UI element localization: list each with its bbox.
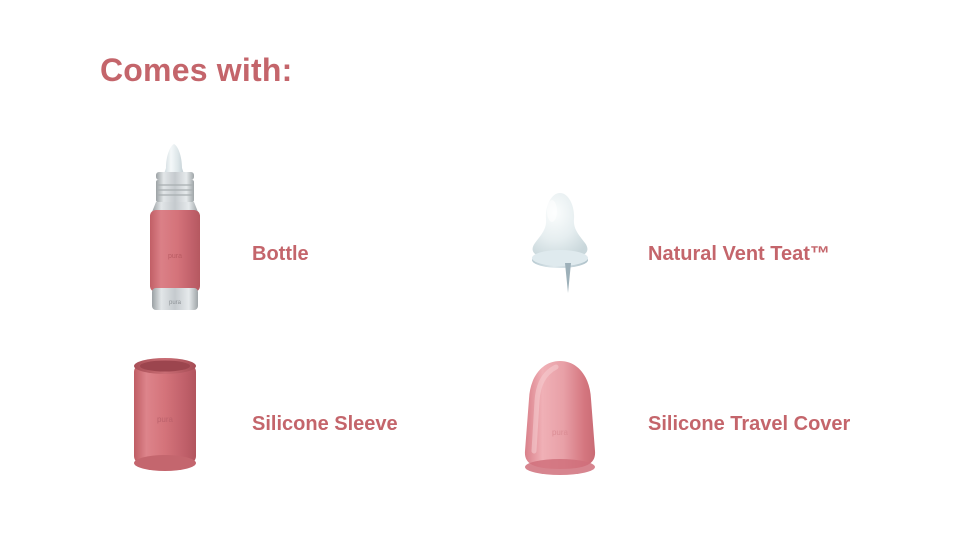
svg-text:pura: pura xyxy=(157,415,174,424)
label-sleeve: Silicone Sleeve xyxy=(252,413,398,436)
svg-text:pura: pura xyxy=(168,253,182,260)
label-travel-cover: Silicone Travel Cover xyxy=(648,413,850,436)
label-bottle: Bottle xyxy=(252,243,309,266)
slide-canvas: Comes with: xyxy=(0,0,960,540)
product-image-travel-cover: pura xyxy=(500,355,625,480)
page-title: Comes with: xyxy=(100,52,292,89)
product-image-sleeve: pura xyxy=(120,350,230,480)
label-teat: Natural Vent Teat™ xyxy=(648,243,830,266)
svg-text:pura: pura xyxy=(169,300,182,306)
product-image-bottle: pura pura xyxy=(120,130,230,320)
product-image-teat xyxy=(495,185,625,305)
svg-text:pura: pura xyxy=(552,428,569,437)
